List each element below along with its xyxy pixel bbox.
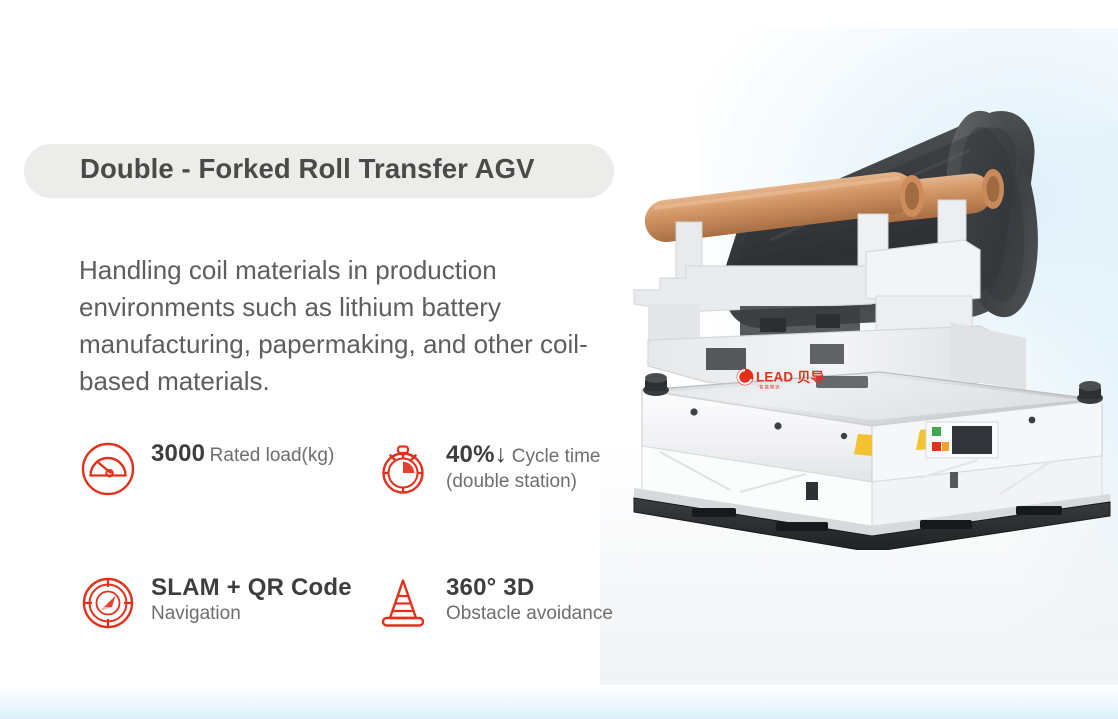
spec-value: 40%↓ <box>446 441 507 468</box>
spec-label: Obstacle avoidance <box>446 603 613 624</box>
spec-text: 40%↓ Cycle time(double station) <box>446 438 600 494</box>
spec-item-cycle-time: 40%↓ Cycle time(double station) <box>374 438 649 498</box>
spec-value: 3000 <box>151 440 205 467</box>
spec-label-line2: (double station) <box>446 469 600 494</box>
stopwatch-icon <box>374 440 432 498</box>
spec-value: SLAM + QR Code <box>151 574 352 601</box>
gauge-icon <box>79 440 137 498</box>
spec-label: Rated load(kg) <box>210 445 335 466</box>
spec-label-line1: Cycle time <box>512 446 601 467</box>
spec-item-navigation: SLAM + QR Code Navigation <box>79 572 374 632</box>
product-image-agv <box>620 90 1118 550</box>
spec-row: SLAM + QR Code Navigation 360° 3D <box>79 572 649 632</box>
spec-item-rated-load: 3000 Rated load(kg) <box>79 438 374 498</box>
background-gradient-bottom <box>0 685 1118 719</box>
spec-text: 3000 Rated load(kg) <box>151 438 334 468</box>
page-title: Double - Forked Roll Transfer AGV <box>80 153 640 185</box>
spec-item-obstacle-avoidance: 360° 3D Obstacle avoidance <box>374 572 649 632</box>
spec-value-arrow: ↓ <box>495 440 508 468</box>
spec-value: 360° 3D <box>446 574 534 601</box>
spec-text: SLAM + QR Code Navigation <box>151 572 374 626</box>
product-description: Handling coil materials in production en… <box>79 252 649 400</box>
spec-label: Navigation <box>151 603 241 624</box>
product-slide: Double - Forked Roll Transfer AGV Handli… <box>0 0 1118 719</box>
spec-text: 360° 3D Obstacle avoidance <box>446 572 649 626</box>
spec-row: 3000 Rated load(kg) <box>79 438 649 498</box>
compass-icon <box>79 574 137 632</box>
traffic-cone-icon <box>374 574 432 632</box>
spec-value-number: 40% <box>446 441 495 468</box>
spec-grid: 3000 Rated load(kg) <box>79 438 649 632</box>
